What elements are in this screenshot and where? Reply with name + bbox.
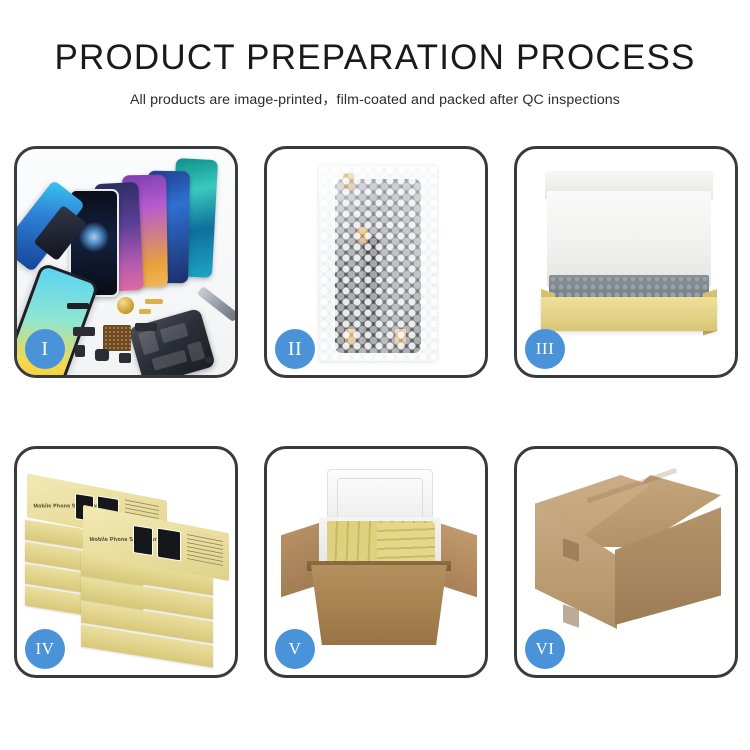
vibrator-part — [119, 353, 131, 363]
gold-tape-part — [145, 299, 163, 304]
process-steps-grid: I II — [14, 146, 738, 678]
open-inner-box — [533, 171, 723, 343]
antenna-flex-part — [135, 323, 157, 331]
box-window-left — [133, 525, 153, 556]
step-badge-2: II — [275, 329, 315, 369]
step-badge-3: III — [525, 329, 565, 369]
battery-connector-part — [67, 303, 89, 309]
step-panel-1[interactable]: I — [14, 146, 238, 378]
open-carton-with-contents — [281, 469, 477, 661]
screw-part — [205, 357, 213, 363]
camera-module-part — [75, 345, 85, 357]
step-panel-6[interactable]: VI — [514, 446, 738, 678]
step-badge-6: VI — [525, 629, 565, 669]
sealed-carton — [535, 475, 721, 647]
flex-cable-part — [73, 327, 95, 336]
box-spec-lines — [187, 531, 223, 566]
box-window-right — [157, 528, 181, 562]
carton-front-panel — [311, 565, 447, 645]
foam-liner — [547, 191, 711, 287]
yellow-boxes-row-2 — [377, 523, 435, 563]
speaker-part — [117, 297, 134, 314]
bubble-wrap-package — [319, 165, 437, 361]
mesh-chip-part — [103, 325, 131, 351]
step-panel-2[interactable]: II — [264, 146, 488, 378]
page-title: PRODUCT PREPARATION PROCESS — [0, 40, 750, 77]
step-badge-1: I — [25, 329, 65, 369]
step-badge-5: V — [275, 629, 315, 669]
speaker-module-part — [95, 349, 109, 361]
plastic-sheen — [319, 165, 437, 361]
step-panel-3[interactable]: III — [514, 146, 738, 378]
page-header: PRODUCT PREPARATION PROCESS All products… — [0, 0, 750, 109]
step-panel-4[interactable]: Mobile Phone Spare Parts Mobile Phone Sp… — [14, 446, 238, 678]
step-badge-4: IV — [25, 629, 65, 669]
gold-tape-part — [139, 309, 151, 314]
page-subtitle: All products are image-printed，film-coat… — [0, 89, 750, 109]
box-front-yellow — [541, 297, 717, 331]
step-panel-5[interactable]: V — [264, 446, 488, 678]
